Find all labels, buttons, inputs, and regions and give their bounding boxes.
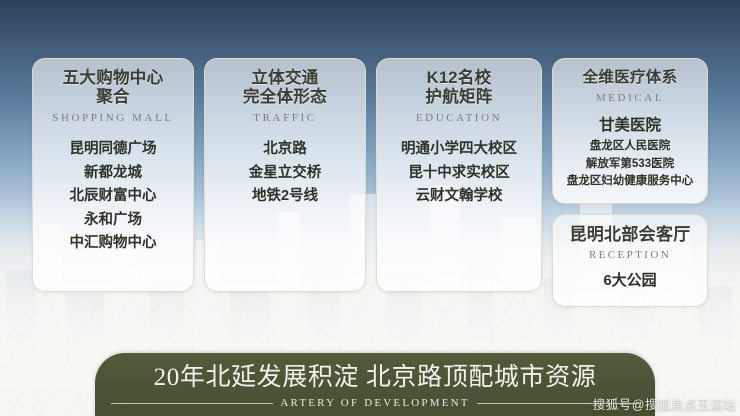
list-item: 盘龙区人民医院 xyxy=(559,138,701,155)
card-title: 全维医疗体系 xyxy=(559,69,701,87)
card-title: 五大购物中心 聚合 xyxy=(39,69,187,107)
list-item: 昆十中求实校区 xyxy=(383,162,535,185)
card-item-list: 昆明同德广场 新都龙城 北辰财富中心 永和广场 中汇购物中心 xyxy=(39,138,187,255)
watermark: 搜狐号@搜狐焦点玉溪站 xyxy=(593,394,736,413)
banner-subline-en: ARTERY OF DEVELOPMENT xyxy=(280,397,469,409)
card-subtitle-en: TRAFFIC xyxy=(211,112,359,124)
card-shopping-mall[interactable]: 五大购物中心 聚合 SHOPPING MALL 昆明同德广场 新都龙城 北辰财富… xyxy=(32,58,194,292)
card-subtitle-en: MEDICAL xyxy=(559,92,701,104)
card-title-line-1: 全维医疗体系 xyxy=(559,69,701,87)
list-item: 昆明同德广场 xyxy=(39,138,187,161)
list-item: 金星立交桥 xyxy=(211,162,359,185)
list-item: 解放军第533医院 xyxy=(559,156,701,173)
card-title-line-1: 五大购物中心 xyxy=(39,69,187,88)
card-item-list: 明通小学四大校区 昆十中求实校区 云财文翰学校 xyxy=(383,138,535,208)
card-title-line-2: 护航矩阵 xyxy=(383,88,535,107)
card-subtitle-en: RECEPTION xyxy=(559,249,701,261)
card-traffic[interactable]: 立体交通 完全体形态 TRAFFIC 北京路 金星立交桥 地铁2号线 xyxy=(204,58,366,292)
slide-canvas: 五大购物中心 聚合 SHOPPING MALL 昆明同德广场 新都龙城 北辰财富… xyxy=(0,0,740,416)
list-item: 云财文翰学校 xyxy=(383,185,535,208)
card-title-line-1: K12名校 xyxy=(383,69,535,88)
list-item: 北辰财富中心 xyxy=(39,185,187,208)
feature-cards-row: 五大购物中心 聚合 SHOPPING MALL 昆明同德广场 新都龙城 北辰财富… xyxy=(32,58,708,292)
card-medical[interactable]: 全维医疗体系 MEDICAL 甘美医院 盘龙区人民医院 解放军第533医院 盘龙… xyxy=(552,58,708,204)
card-subtitle-en: EDUCATION xyxy=(383,112,535,124)
list-item: 地铁2号线 xyxy=(211,185,359,208)
list-item: 中汇购物中心 xyxy=(39,232,187,255)
card-title-line-2: 聚合 xyxy=(39,88,187,107)
card-subtitle-en: SHOPPING MALL xyxy=(39,112,187,124)
card-title-line-1: 立体交通 xyxy=(211,69,359,88)
card-title: K12名校 护航矩阵 xyxy=(383,69,535,107)
list-item: 6大公园 xyxy=(559,269,701,293)
card-title: 昆明北部会客厅 xyxy=(559,225,701,245)
card-education[interactable]: K12名校 护航矩阵 EDUCATION 明通小学四大校区 昆十中求实校区 云财… xyxy=(376,58,542,292)
banner-rule-left xyxy=(111,403,273,404)
list-item: 北京路 xyxy=(211,138,359,161)
card-reception[interactable]: 昆明北部会客厅 RECEPTION 6大公园 xyxy=(552,214,708,307)
card-item-list: 盘龙区人民医院 解放军第533医院 盘龙区妇幼健康服务中心 xyxy=(559,138,701,190)
card-title: 立体交通 完全体形态 xyxy=(211,69,359,107)
banner-headline: 20年北延发展积淀 北京路顶配城市资源 xyxy=(95,357,655,393)
list-item: 新都龙城 xyxy=(39,162,187,185)
list-item: 明通小学四大校区 xyxy=(383,138,535,161)
card-item-list: 6大公园 xyxy=(559,269,701,293)
banner-subline-row: ARTERY OF DEVELOPMENT xyxy=(95,397,655,409)
list-item: 永和广场 xyxy=(39,209,187,232)
bottom-banner: 20年北延发展积淀 北京路顶配城市资源 ARTERY OF DEVELOPMEN… xyxy=(95,353,655,416)
list-item: 盘龙区妇幼健康服务中心 xyxy=(559,173,701,190)
card-item-list: 北京路 金星立交桥 地铁2号线 xyxy=(211,138,359,208)
card-lead-item: 甘美医院 xyxy=(559,116,701,136)
card-title-line-2: 完全体形态 xyxy=(211,88,359,107)
